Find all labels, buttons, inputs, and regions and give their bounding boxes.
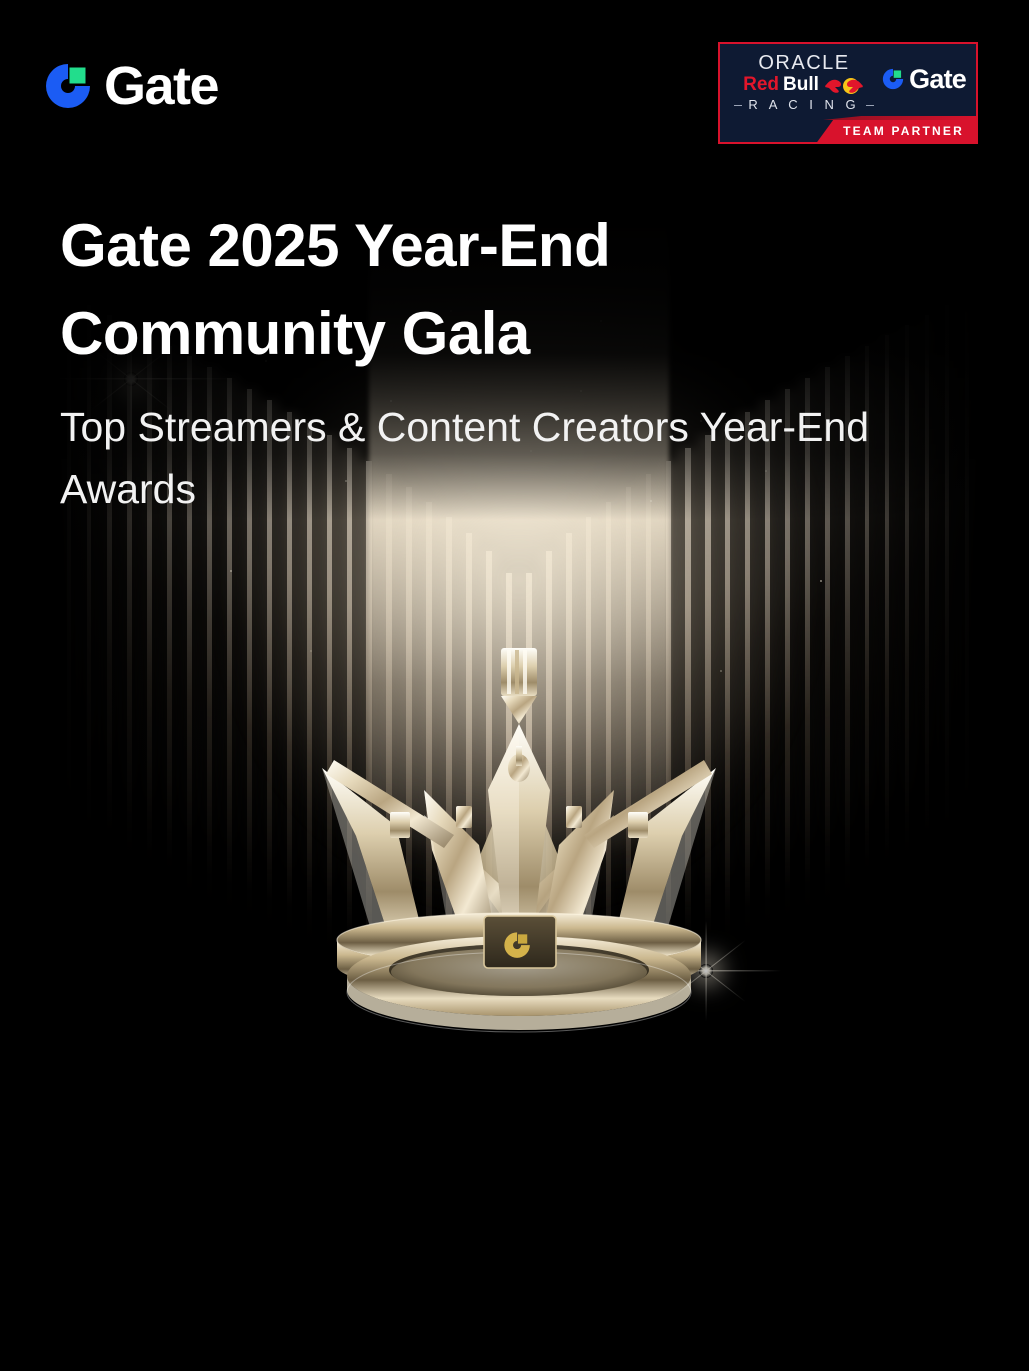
poster-page: Gate ORACLE Red Bull: [0, 0, 1029, 1371]
oracle-wordmark: ORACLE: [734, 52, 874, 74]
red-word: Red: [743, 75, 779, 95]
gate-logo-icon: [881, 67, 905, 91]
red-bull-racing-lockup: ORACLE Red Bull: [734, 52, 874, 112]
red-bull-charging-bulls-icon: [823, 75, 865, 95]
team-partner-underglow: [721, 116, 976, 120]
hero-card: Gate 2025 Year-End Community Gala Top St…: [60, 150, 977, 1160]
badge-gate-name: Gate: [909, 66, 966, 92]
bottom-fade: [0, 1141, 1029, 1371]
crown-trophy-image: [304, 640, 734, 1040]
team-partner-banner: TEAM PARTNER: [817, 120, 976, 142]
page-subtitle: Top Streamers & Content Creators Year-En…: [60, 396, 930, 520]
rule-right: [866, 105, 874, 106]
brand-name: Gate: [104, 60, 218, 112]
rule-left: [734, 105, 742, 106]
badge-gate-logo: Gate: [881, 66, 966, 92]
racing-wordmark: R A C I N G: [748, 98, 859, 112]
hero-copy: Gate 2025 Year-End Community Gala Top St…: [60, 150, 977, 520]
brand-logo[interactable]: Gate: [42, 60, 218, 112]
partner-badge[interactable]: ORACLE Red Bull: [718, 42, 978, 144]
page-title: Gate 2025 Year-End Community Gala: [60, 202, 965, 378]
bull-word: Bull: [783, 75, 819, 95]
top-bar: Gate ORACLE Red Bull: [0, 0, 1029, 150]
gate-logo-icon: [42, 60, 94, 112]
